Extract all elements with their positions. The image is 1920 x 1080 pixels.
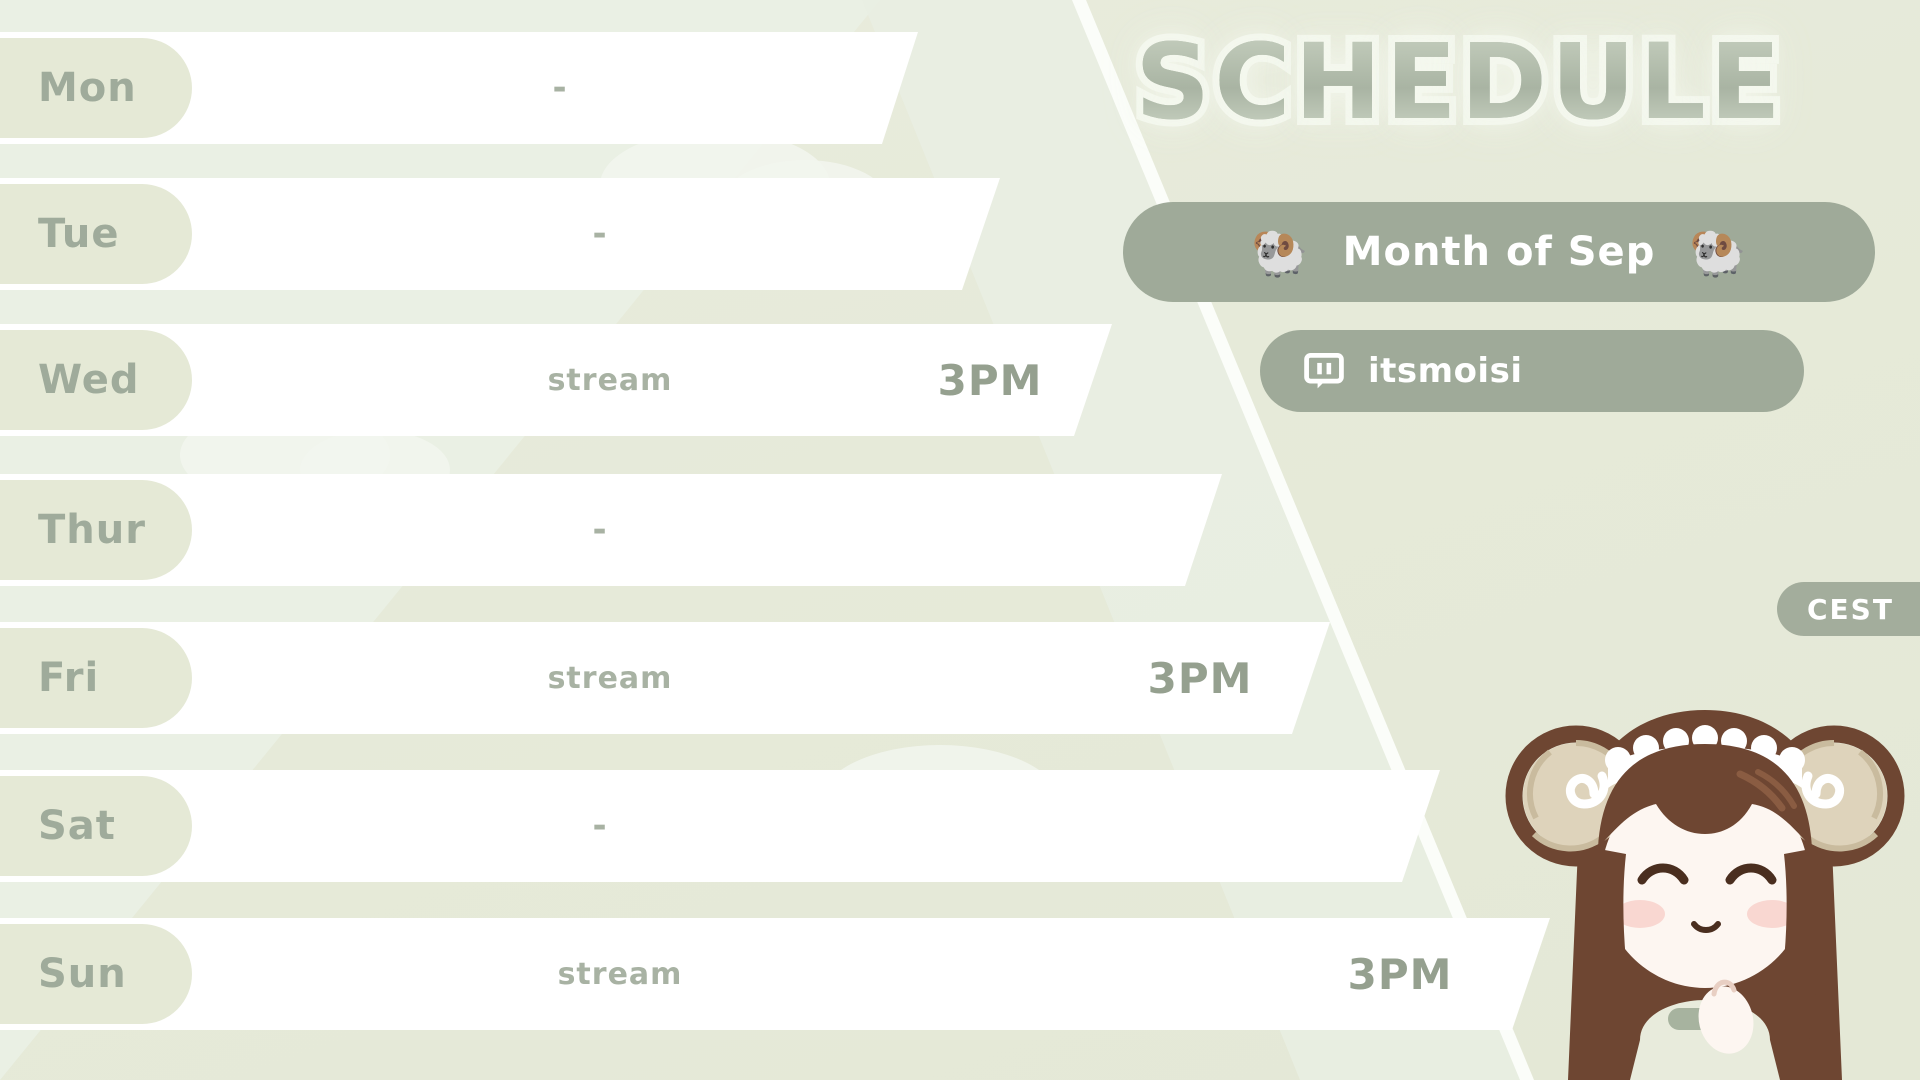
ram-icon: 🐏 — [1251, 229, 1308, 275]
time-cell — [980, 474, 1240, 586]
activity-cell: - — [430, 32, 690, 144]
time-cell — [880, 178, 1140, 290]
day-pill-thur: Thur — [0, 480, 192, 580]
day-label: Wed — [38, 357, 139, 403]
day-pill-fri: Fri — [0, 628, 192, 728]
ram-icon: 🐏 — [1689, 229, 1746, 275]
day-label: Tue — [38, 211, 120, 257]
twitch-icon — [1302, 349, 1346, 393]
time-label: 3PM — [1148, 654, 1253, 703]
day-label: Thur — [38, 507, 146, 553]
month-banner: 🐏 Month of Sep 🐏 — [1123, 202, 1875, 302]
month-label: Month of Sep — [1343, 229, 1656, 275]
twitch-username: itsmoisi — [1368, 351, 1522, 391]
activity-label: - — [592, 510, 607, 550]
day-pill-tue: Tue — [0, 184, 192, 284]
activity-cell: - — [470, 474, 730, 586]
day-label: Fri — [38, 655, 99, 701]
timezone-label: CEST — [1807, 593, 1894, 626]
activity-label: stream — [558, 957, 683, 992]
activity-cell: - — [470, 770, 730, 882]
status-badge: CEST — [1777, 582, 1920, 636]
time-label: 3PM — [1348, 950, 1453, 999]
time-cell — [1180, 770, 1440, 882]
time-label: 3PM — [938, 356, 1043, 405]
day-pill-sat: Sat — [0, 776, 192, 876]
activity-label: stream — [548, 363, 673, 398]
activity-label: - — [592, 806, 607, 846]
activity-cell: stream — [475, 622, 745, 734]
day-label: Sun — [38, 951, 127, 997]
activity-label: - — [552, 68, 567, 108]
page-title-outline: SCHEDULE — [1135, 21, 1784, 143]
day-label: Mon — [38, 65, 137, 111]
schedule-graphic: Mon - Tue - Wed — [0, 0, 1920, 1080]
activity-cell: stream — [475, 324, 745, 436]
day-label: Sat — [38, 803, 116, 849]
activity-cell: stream — [485, 918, 755, 1030]
activity-label: stream — [548, 661, 673, 696]
time-cell: 3PM — [1070, 622, 1330, 734]
day-pill-mon: Mon — [0, 38, 192, 138]
activity-label: - — [592, 214, 607, 254]
page-title: SCHEDULE SCHEDULE — [1050, 22, 1870, 142]
time-cell — [830, 32, 1090, 144]
avatar — [1490, 648, 1920, 1080]
time-cell: 3PM — [860, 324, 1120, 436]
activity-cell: - — [470, 178, 730, 290]
twitch-handle-pill[interactable]: itsmoisi — [1260, 330, 1804, 412]
day-pill-wed: Wed — [0, 330, 192, 430]
day-pill-sun: Sun — [0, 924, 192, 1024]
